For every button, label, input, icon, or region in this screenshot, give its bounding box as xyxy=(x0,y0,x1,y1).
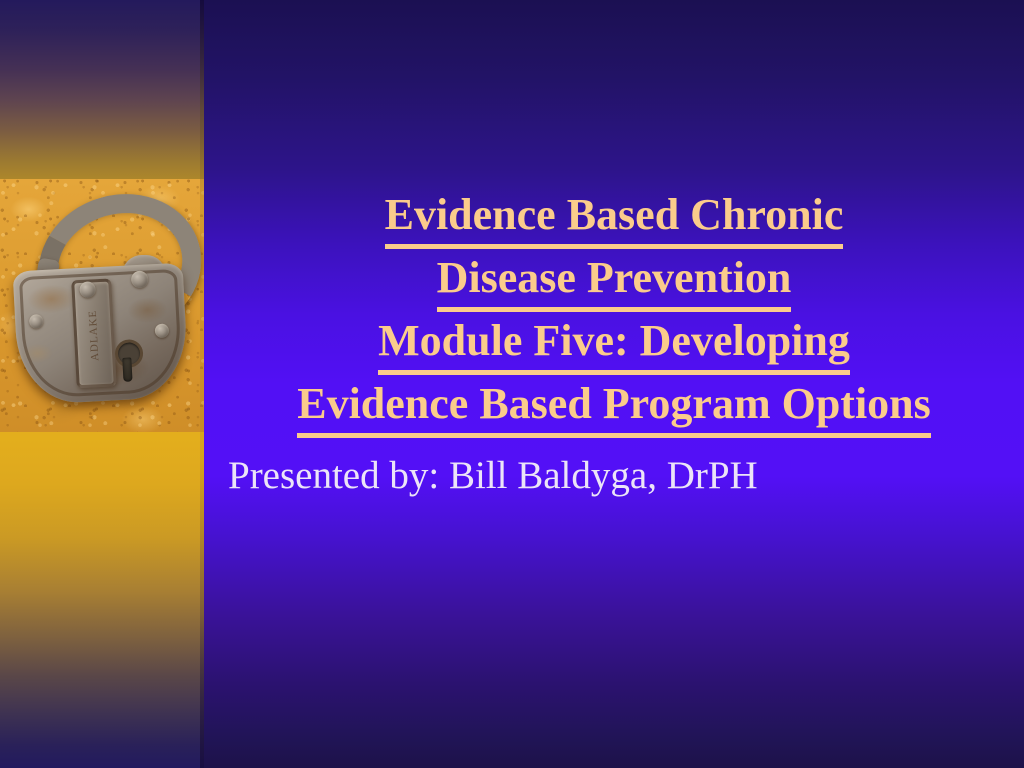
slide-subtitle-presenter: Presented by: Bill Baldyga, DrPH xyxy=(228,451,758,501)
slide-title: Evidence Based Chronic Disease Preventio… xyxy=(204,186,1024,438)
presentation-slide: ADLAKE Evidence Based Chronic Disease Pr… xyxy=(0,0,1024,768)
title-line-3-text: Module Five: Developing xyxy=(378,312,850,375)
title-line-1-text: Evidence Based Chronic xyxy=(385,186,844,249)
antique-open-padlock-photo: ADLAKE xyxy=(0,179,204,432)
title-line-4-text: Evidence Based Program Options xyxy=(297,375,931,438)
title-line-2: Disease Prevention xyxy=(204,249,1024,312)
title-line-3: Module Five: Developing xyxy=(204,312,1024,375)
padlock-key-plate: ADLAKE xyxy=(71,278,117,388)
padlock-keyhole-slot xyxy=(122,357,132,381)
title-line-2-text: Disease Prevention xyxy=(437,249,792,312)
title-line-1: Evidence Based Chronic xyxy=(204,186,1024,249)
sidebar-decorative-band: ADLAKE xyxy=(0,0,204,768)
title-line-4: Evidence Based Program Options xyxy=(204,375,1024,438)
padlock-body: ADLAKE xyxy=(13,263,190,406)
padlock-plate-embossing: ADLAKE xyxy=(87,310,102,362)
